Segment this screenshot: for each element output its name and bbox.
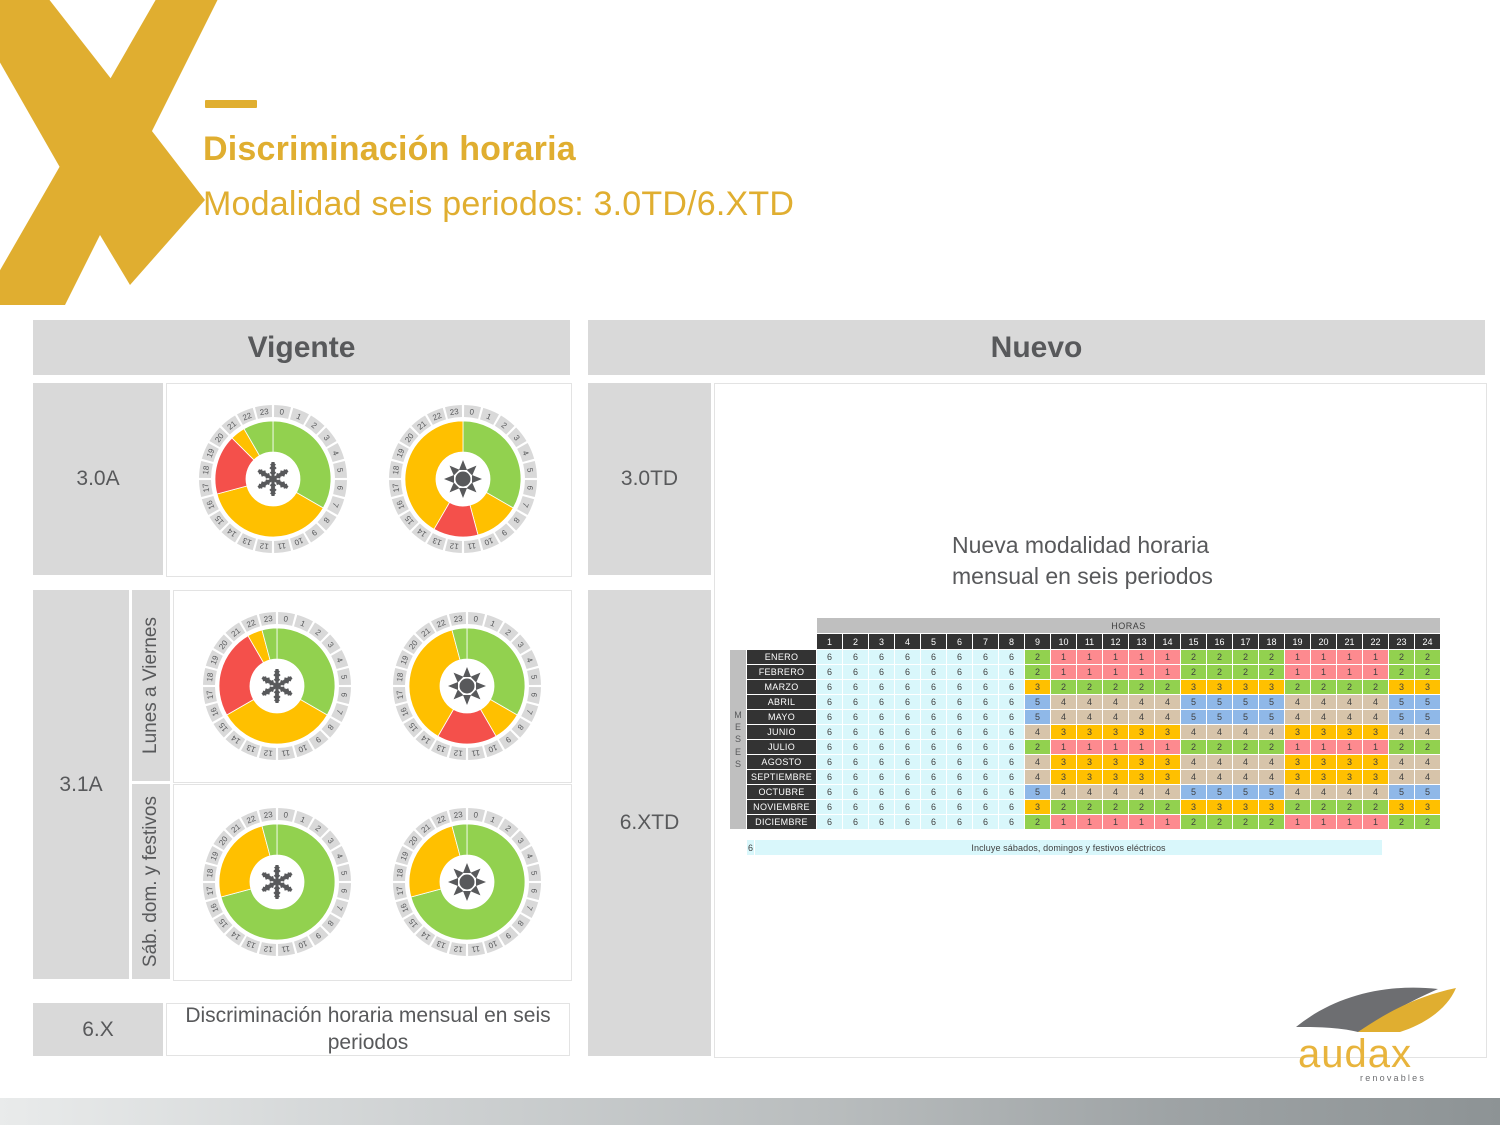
sublabel-lunes-a-viernes-text: Lunes a Viernes <box>140 617 162 754</box>
heatmap-cell: 6 <box>843 680 868 694</box>
heatmap-cell: 4 <box>1337 710 1362 724</box>
legend-text: Incluye sábados, domingos y festivos elé… <box>755 840 1382 855</box>
heatmap-cell: 6 <box>869 770 894 784</box>
heatmap-cell: 2 <box>1389 815 1414 829</box>
heatmap-cell: 4 <box>1025 725 1050 739</box>
heatmap-cell: 6 <box>999 800 1024 814</box>
heatmap-cell: 6 <box>869 695 894 709</box>
heatmap-cell: 2 <box>1285 680 1310 694</box>
heatmap-cell: 5 <box>1233 785 1258 799</box>
heatmap-cell: 6 <box>921 710 946 724</box>
heatmap-cell: 6 <box>921 680 946 694</box>
heatmap-cell: 3 <box>1363 755 1388 769</box>
heatmap-cell: 6 <box>921 695 946 709</box>
heatmap-cell: 5 <box>1233 710 1258 724</box>
heatmap-cell: 4 <box>1363 710 1388 724</box>
heatmap-cell: 2 <box>1415 740 1440 754</box>
heatmap-cell: 2 <box>1025 740 1050 754</box>
heatmap-row: MESESENERO666666662111112222111122 <box>730 650 1440 664</box>
heatmap-cell: 1 <box>1051 665 1076 679</box>
heatmap-cell: 6 <box>817 665 842 679</box>
heatmap-cell: 6 <box>869 710 894 724</box>
heatmap-cell: 4 <box>1155 695 1180 709</box>
heatmap-cell: 4 <box>1259 770 1284 784</box>
heatmap-cell: 6 <box>895 770 920 784</box>
heatmap-cell: 6 <box>999 755 1024 769</box>
heatmap-cell: 3 <box>1077 770 1102 784</box>
heatmap-hour-header: 13 <box>1129 634 1154 649</box>
heatmap-cell: 4 <box>1233 755 1258 769</box>
heatmap-hour-header: 23 <box>1389 634 1414 649</box>
heatmap-month-label: FEBRERO <box>747 665 816 679</box>
heatmap-cell: 1 <box>1285 740 1310 754</box>
heatmap-cell: 6 <box>895 740 920 754</box>
heatmap-cell: 4 <box>1129 785 1154 799</box>
heatmap-hour-header: 10 <box>1051 634 1076 649</box>
heatmap-cell: 6 <box>947 815 972 829</box>
heatmap-cell: 5 <box>1181 785 1206 799</box>
heatmap-cell: 6 <box>947 740 972 754</box>
heatmap-cell: 3 <box>1103 770 1128 784</box>
heatmap-cell: 6 <box>843 695 868 709</box>
heatmap-cell: 5 <box>1389 695 1414 709</box>
heatmap-cell: 1 <box>1155 740 1180 754</box>
heatmap-cell: 1 <box>1363 815 1388 829</box>
heatmap-cell: 6 <box>843 770 868 784</box>
heatmap-cell: 3 <box>1025 680 1050 694</box>
heatmap-hour-header: 18 <box>1259 634 1284 649</box>
heatmap-cell: 6 <box>973 665 998 679</box>
heatmap-cell: 6 <box>817 650 842 664</box>
clock-hour-tick: 12 <box>262 943 273 953</box>
heatmap-cell: 5 <box>1259 710 1284 724</box>
tariff-label-31a: 3.1A <box>33 590 129 979</box>
sun-icon <box>448 863 486 901</box>
heatmap-cell: 5 <box>1207 785 1232 799</box>
heatmap-hour-header: 17 <box>1233 634 1258 649</box>
heatmap-cell: 6 <box>973 650 998 664</box>
heatmap-hour-header: 2 <box>843 634 868 649</box>
heatmap-hour-header: 24 <box>1415 634 1440 649</box>
heatmap-cell: 6 <box>817 755 842 769</box>
heatmap-cell: 3 <box>1129 770 1154 784</box>
heatmap-cell: 4 <box>1311 785 1336 799</box>
heatmap-cell: 1 <box>1311 650 1336 664</box>
heatmap-cell: 6 <box>817 725 842 739</box>
heatmap-cell: 3 <box>1311 755 1336 769</box>
heatmap-cell: 3 <box>1233 680 1258 694</box>
heatmap-cell: 6 <box>843 665 868 679</box>
heatmap-cell: 6 <box>895 665 920 679</box>
heatmap-cell: 6 <box>869 740 894 754</box>
title-accent-dash <box>205 100 257 108</box>
heatmap-cell: 6 <box>973 785 998 799</box>
clock-hour-tick: 23 <box>449 407 460 417</box>
clock-hour-tick: 12 <box>452 943 463 953</box>
heatmap-cell: 3 <box>1311 725 1336 739</box>
heatmap-cell: 4 <box>1259 725 1284 739</box>
hourly-period-clock: 01234567891011121314151617181920212223 <box>385 800 549 964</box>
heatmap-cell: 6 <box>895 680 920 694</box>
heatmap-hour-header: 12 <box>1103 634 1128 649</box>
heatmap-cell: 1 <box>1285 815 1310 829</box>
heatmap-cell: 4 <box>1285 710 1310 724</box>
heatmap-cell: 6 <box>947 665 972 679</box>
page-title: Discriminación horaria <box>203 130 576 169</box>
heatmap-cell: 2 <box>1389 740 1414 754</box>
heatmap-cell: 3 <box>1285 755 1310 769</box>
heatmap-row: OCTUBRE666666665444445555444455 <box>730 785 1440 799</box>
heatmap-month-label: JUNIO <box>747 725 816 739</box>
heatmap-cell: 2 <box>1233 665 1258 679</box>
heatmap-cell: 6 <box>921 755 946 769</box>
heatmap-cell: 6 <box>869 665 894 679</box>
heatmap-cell: 2 <box>1415 650 1440 664</box>
heatmap-cell: 3 <box>1051 770 1076 784</box>
tariff-label-6x: 6.X <box>33 1003 163 1056</box>
heatmap-cell: 1 <box>1051 650 1076 664</box>
sun-icon <box>444 460 482 498</box>
heatmap-cell: 6 <box>973 770 998 784</box>
heatmap-cell: 1 <box>1129 740 1154 754</box>
label-6x-description: Discriminación horaria mensual en seis p… <box>166 1003 570 1056</box>
heatmap-cell: 4 <box>1129 695 1154 709</box>
heatmap-cell: 1 <box>1155 650 1180 664</box>
heatmap-cell: 1 <box>1103 665 1128 679</box>
heatmap-cell: 2 <box>1311 800 1336 814</box>
heatmap-cell: 3 <box>1337 755 1362 769</box>
heatmap-cell: 4 <box>1103 695 1128 709</box>
clock-hour-tick: 12 <box>449 541 460 551</box>
heatmap-cell: 4 <box>1077 785 1102 799</box>
heatmap-cell: 5 <box>1207 710 1232 724</box>
heatmap-cell: 1 <box>1077 665 1102 679</box>
heatmap-month-label: MAYO <box>747 710 816 724</box>
heatmap-hour-header: 21 <box>1337 634 1362 649</box>
heatmap-cell: 4 <box>1337 695 1362 709</box>
heatmap-cell: 2 <box>1103 800 1128 814</box>
heatmap-cell: 2 <box>1103 680 1128 694</box>
heatmap-cell: 5 <box>1415 785 1440 799</box>
clock-hour-tick: 18 <box>395 867 405 878</box>
heatmap-cell: 2 <box>1337 680 1362 694</box>
heatmap-cell: 3 <box>1259 800 1284 814</box>
heatmap-month-label: MARZO <box>747 680 816 694</box>
heatmap-cell: 1 <box>1363 665 1388 679</box>
heatmap-cell: 2 <box>1207 740 1232 754</box>
heatmap-cell: 4 <box>1181 725 1206 739</box>
heatmap-cell: 1 <box>1311 815 1336 829</box>
heatmap-cell: 5 <box>1415 710 1440 724</box>
heatmap-cell: 4 <box>1389 725 1414 739</box>
heatmap-cell: 3 <box>1285 725 1310 739</box>
heatmap-cell: 1 <box>1311 665 1336 679</box>
heatmap-cell: 2 <box>1233 650 1258 664</box>
heatmap-hour-header: 4 <box>895 634 920 649</box>
heatmap-cell: 1 <box>1337 740 1362 754</box>
heatmap-cell: 1 <box>1077 815 1102 829</box>
heatmap-cell: 3 <box>1207 680 1232 694</box>
heatmap-cell: 1 <box>1363 650 1388 664</box>
clock-hour-tick: 17 <box>391 482 401 493</box>
heatmap-cell: 1 <box>1337 665 1362 679</box>
heatmap-cell: 6 <box>947 680 972 694</box>
heatmap-cell: 6 <box>869 650 894 664</box>
heatmap-cell: 6 <box>999 695 1024 709</box>
heatmap-cell: 6 <box>843 755 868 769</box>
heatmap-cell: 3 <box>1103 725 1128 739</box>
heatmap-cell: 6 <box>895 755 920 769</box>
clock-hour-tick: 17 <box>394 885 404 896</box>
heatmap-cell: 6 <box>869 680 894 694</box>
heatmap-cell: 3 <box>1129 755 1154 769</box>
heatmap-cell: 2 <box>1207 815 1232 829</box>
heatmap-cell: 6 <box>999 665 1024 679</box>
heatmap-cell: 4 <box>1129 710 1154 724</box>
heatmap-cell: 6 <box>999 740 1024 754</box>
heatmap-cell: 4 <box>1259 755 1284 769</box>
heatmap-cell: 6 <box>817 740 842 754</box>
heatmap-cell: 6 <box>947 770 972 784</box>
clock-hour-tick: 23 <box>263 613 274 623</box>
clock-hour-tick: 18 <box>205 867 215 878</box>
heatmap-cell: 6 <box>843 650 868 664</box>
heatmap-hour-header: 15 <box>1181 634 1206 649</box>
heatmap-cell: 3 <box>1337 725 1362 739</box>
heatmap-month-label: NOVIEMBRE <box>747 800 816 814</box>
clock-hour-tick: 18 <box>205 671 215 682</box>
heatmap-cell: 2 <box>1311 680 1336 694</box>
heatmap-cell: 6 <box>843 725 868 739</box>
heatmap-cell: 6 <box>973 680 998 694</box>
sublabel-sab-dom-festivos: Sáb. dom. y festivos <box>132 784 170 979</box>
clock-hour-tick: 17 <box>204 885 214 896</box>
heatmap-cell: 6 <box>999 680 1024 694</box>
heatmap-cell: 4 <box>1311 695 1336 709</box>
heatmap-cell: 1 <box>1129 665 1154 679</box>
heatmap-cell: 1 <box>1363 740 1388 754</box>
nuevo-caption: Nueva modalidad horaria mensual en seis … <box>952 530 1213 592</box>
heatmap-cell: 4 <box>1363 785 1388 799</box>
heatmap-cell: 1 <box>1311 740 1336 754</box>
heatmap-cell: 2 <box>1051 680 1076 694</box>
heatmap-cell: 2 <box>1259 650 1284 664</box>
heatmap-hour-header: 3 <box>869 634 894 649</box>
heatmap-cell: 1 <box>1103 650 1128 664</box>
hourly-period-clock: 01234567891011121314151617181920212223 <box>381 397 545 561</box>
heatmap-cell: 1 <box>1129 815 1154 829</box>
sublabel-sab-dom-festivos-text: Sáb. dom. y festivos <box>140 796 162 967</box>
heatmap-cell: 2 <box>1129 800 1154 814</box>
heatmap-cell: 6 <box>817 770 842 784</box>
heatmap-month-label: AGOSTO <box>747 755 816 769</box>
heatmap-cell: 2 <box>1389 665 1414 679</box>
heatmap-cell: 3 <box>1155 770 1180 784</box>
heatmap-row: JULIO666666662111112222111122 <box>730 740 1440 754</box>
heatmap-cell: 4 <box>1051 785 1076 799</box>
heatmap-legend: 6 Incluye sábados, domingos y festivos e… <box>729 839 1383 856</box>
heatmap-cell: 2 <box>1415 665 1440 679</box>
heatmap-cell: 5 <box>1207 695 1232 709</box>
heatmap-cell: 3 <box>1103 755 1128 769</box>
heatmap-cell: 5 <box>1415 695 1440 709</box>
heatmap-cell: 3 <box>1311 770 1336 784</box>
heatmap-cell: 3 <box>1181 800 1206 814</box>
heatmap-cell: 6 <box>973 710 998 724</box>
brand-x-watermark <box>0 0 230 315</box>
heatmap-cell: 2 <box>1155 800 1180 814</box>
heatmap-cell: 2 <box>1025 815 1050 829</box>
heatmap-cell: 4 <box>1207 725 1232 739</box>
heatmap-cell: 2 <box>1259 665 1284 679</box>
heatmap-cell: 2 <box>1155 680 1180 694</box>
tariff-label-6xtd: 6.XTD <box>588 590 711 1056</box>
clock-hour-tick: 23 <box>263 809 274 819</box>
heatmap-cell: 4 <box>1077 695 1102 709</box>
clock-row-30a: 0123456789101112131415161718192021222301… <box>166 383 570 575</box>
heatmap-month-label: OCTUBRE <box>747 785 816 799</box>
clock-hour-tick: 12 <box>262 747 273 757</box>
heatmap-cell: 3 <box>1077 725 1102 739</box>
heatmap-cell: 6 <box>947 785 972 799</box>
heatmap-cell: 2 <box>1181 740 1206 754</box>
heatmap-cell: 5 <box>1025 710 1050 724</box>
heatmap-cell: 6 <box>921 725 946 739</box>
heatmap-cell: 6 <box>869 800 894 814</box>
heatmap-row: AGOSTO666666664333334444333344 <box>730 755 1440 769</box>
heatmap-cell: 2 <box>1181 815 1206 829</box>
heatmap-cell: 6 <box>947 800 972 814</box>
heatmap-cell: 6 <box>947 695 972 709</box>
heatmap-hour-header: 1 <box>817 634 842 649</box>
clock-hour-tick: 23 <box>453 809 464 819</box>
heatmap-cell: 5 <box>1181 695 1206 709</box>
heatmap-cell: 6 <box>921 815 946 829</box>
heatmap-cell: 5 <box>1389 710 1414 724</box>
heatmap-cell: 2 <box>1025 665 1050 679</box>
heatmap-cell: 5 <box>1181 710 1206 724</box>
heatmap-cell: 4 <box>1415 770 1440 784</box>
heatmap-cell: 6 <box>895 785 920 799</box>
heatmap-cell: 5 <box>1259 695 1284 709</box>
heatmap-month-label: ENERO <box>747 650 816 664</box>
heatmap-cell: 4 <box>1051 695 1076 709</box>
heatmap-month-label: ABRIL <box>747 695 816 709</box>
heatmap-cell: 6 <box>895 800 920 814</box>
heatmap-cell: 3 <box>1051 725 1076 739</box>
heatmap-cell: 2 <box>1259 740 1284 754</box>
heatmap-cell: 4 <box>1285 695 1310 709</box>
heatmap-cell: 2 <box>1207 665 1232 679</box>
heatmap-cell: 3 <box>1285 770 1310 784</box>
heatmap-cell: 6 <box>817 695 842 709</box>
heatmap-hour-header: 7 <box>973 634 998 649</box>
heatmap-cell: 3 <box>1415 800 1440 814</box>
heatmap-cell: 6 <box>817 710 842 724</box>
heatmap-cell: 6 <box>973 815 998 829</box>
heatmap-cell: 6 <box>895 725 920 739</box>
heatmap-cell: 1 <box>1103 815 1128 829</box>
tariff-label-30td: 3.0TD <box>588 383 711 575</box>
sun-icon <box>448 667 486 705</box>
clock-hour-tick: 18 <box>395 671 405 682</box>
heatmap-cell: 6 <box>973 695 998 709</box>
heatmap-row: MARZO666666663222223333222233 <box>730 680 1440 694</box>
panel-header-nuevo: Nuevo <box>588 320 1485 375</box>
heatmap-cell: 1 <box>1077 650 1102 664</box>
heatmap-cell: 6 <box>895 650 920 664</box>
hourly-period-clock: 01234567891011121314151617181920212223 <box>195 800 359 964</box>
sublabel-lunes-a-viernes: Lunes a Viernes <box>132 590 170 781</box>
heatmap-cell: 3 <box>1077 755 1102 769</box>
heatmap-cell: 1 <box>1337 815 1362 829</box>
clock-hour-tick: 12 <box>452 747 463 757</box>
heatmap-cell: 1 <box>1129 650 1154 664</box>
tariff-label-30a: 3.0A <box>33 383 163 575</box>
heatmap-cell: 4 <box>1415 725 1440 739</box>
panel-header-vigente: Vigente <box>33 320 570 375</box>
heatmap-month-label: SEPTIEMBRE <box>747 770 816 784</box>
heatmap-cell: 2 <box>1389 650 1414 664</box>
heatmap-cell: 3 <box>1181 680 1206 694</box>
heatmap-cell: 1 <box>1285 665 1310 679</box>
page-subtitle: Modalidad seis periodos: 3.0TD/6.XTD <box>203 185 794 224</box>
heatmap-cell: 4 <box>1051 710 1076 724</box>
heatmap-cell: 6 <box>895 815 920 829</box>
heatmap-cell: 6 <box>843 740 868 754</box>
heatmap-cell: 6 <box>999 770 1024 784</box>
heatmap-cell: 4 <box>1103 785 1128 799</box>
heatmap-cell: 6 <box>895 695 920 709</box>
heatmap-cell: 2 <box>1285 800 1310 814</box>
heatmap-cell: 4 <box>1311 710 1336 724</box>
heatmap-cell: 2 <box>1051 800 1076 814</box>
heatmap-cell: 3 <box>1155 725 1180 739</box>
heatmap-cell: 6 <box>869 755 894 769</box>
heatmap-cell: 1 <box>1285 650 1310 664</box>
heatmap-cell: 4 <box>1077 710 1102 724</box>
heatmap-cell: 4 <box>1155 785 1180 799</box>
heatmap-cell: 2 <box>1337 800 1362 814</box>
legend-swatch-p6: 6 <box>747 840 754 855</box>
nuevo-caption-line2: mensual en seis periodos <box>952 561 1213 592</box>
heatmap-hour-header: 9 <box>1025 634 1050 649</box>
heatmap-row: MAYO666666665444445555444455 <box>730 710 1440 724</box>
heatmap-cell: 4 <box>1207 755 1232 769</box>
heatmap-cell: 2 <box>1181 650 1206 664</box>
hourly-period-clock: 01234567891011121314151617181920212223 <box>385 604 549 768</box>
heatmap-hour-header: 20 <box>1311 634 1336 649</box>
heatmap-cell: 6 <box>921 800 946 814</box>
heatmap-cell: 1 <box>1155 815 1180 829</box>
heatmap-hour-header: 19 <box>1285 634 1310 649</box>
heatmap-cell: 2 <box>1181 665 1206 679</box>
heatmap-cell: 4 <box>1025 755 1050 769</box>
heatmap-cell: 3 <box>1155 755 1180 769</box>
clock-hour-tick: 17 <box>201 482 211 493</box>
heatmap-cell: 6 <box>921 770 946 784</box>
heatmap-cell: 6 <box>999 815 1024 829</box>
heatmap-cell: 6 <box>869 815 894 829</box>
monthly-period-heatmap: HORAS12345678910111213141516171819202122… <box>729 617 1441 856</box>
clock-hour-tick: 23 <box>259 407 270 417</box>
heatmap-cell: 3 <box>1051 755 1076 769</box>
heatmap-hour-header: 11 <box>1077 634 1102 649</box>
heatmap-cell: 6 <box>921 740 946 754</box>
heatmap-cell: 6 <box>973 725 998 739</box>
heatmap-cell: 4 <box>1285 785 1310 799</box>
heatmap-row: SEPTIEMBRE666666664333334444333344 <box>730 770 1440 784</box>
